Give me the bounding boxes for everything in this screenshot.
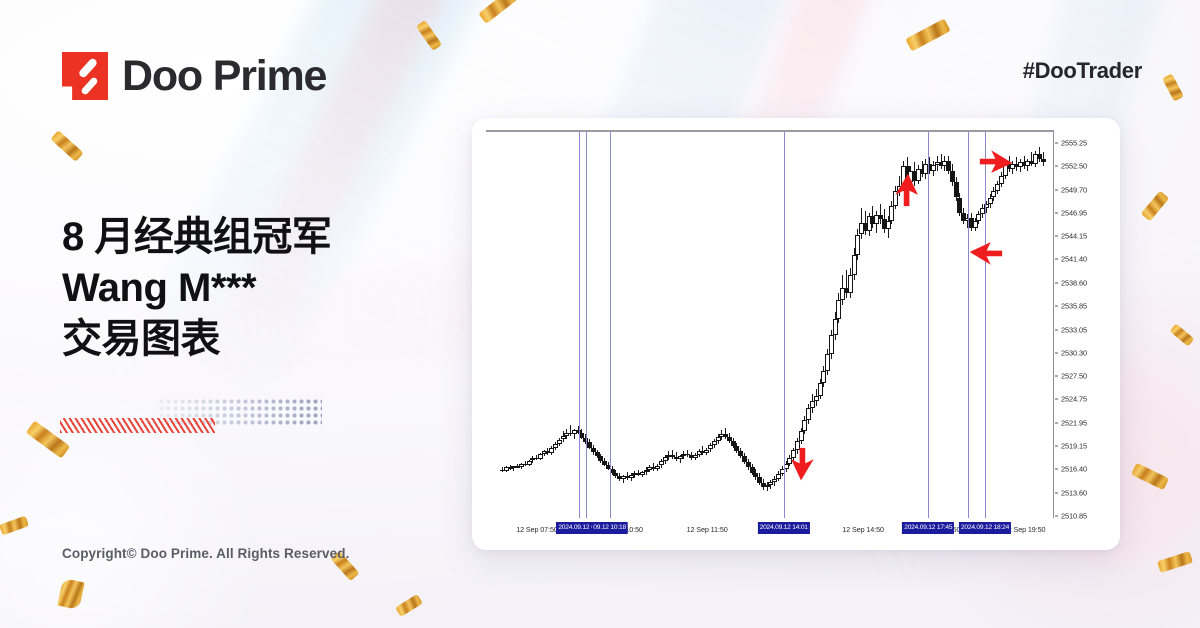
price-tick <box>1055 469 1058 470</box>
price-tick-label: 2555.25 <box>1061 139 1087 148</box>
candle-body <box>1041 159 1046 162</box>
price-tick <box>1055 446 1058 447</box>
trade-time-badge: 2024.09.12 17:45 <box>902 522 954 534</box>
price-tick <box>1055 143 1058 144</box>
trade-vertical-line <box>586 132 587 518</box>
price-tick-label: 2513.60 <box>1061 488 1087 497</box>
trade-time-badge: 2024.09.12 18:24 <box>959 522 1011 534</box>
trade-time-badge: 09.12 10:18 <box>591 522 628 534</box>
price-tick <box>1055 516 1058 517</box>
doo-prime-mark-icon <box>62 52 108 100</box>
price-tick <box>1055 306 1058 307</box>
price-tick <box>1055 189 1058 190</box>
trade-time-badge: 2024.09.12 14:01 <box>758 522 810 534</box>
price-tick <box>1055 236 1058 237</box>
brand-name: Doo Prime <box>122 55 326 98</box>
trade-vertical-line <box>968 132 969 518</box>
price-tick-label: 2552.50 <box>1061 162 1087 171</box>
price-tick <box>1055 492 1058 493</box>
copyright-notice: Copyright© Doo Prime. All Rights Reserve… <box>62 546 349 561</box>
price-tick-label: 2530.30 <box>1061 348 1087 357</box>
price-tick-label: 2541.40 <box>1061 255 1087 264</box>
price-tick-label: 2510.85 <box>1061 512 1087 521</box>
candle <box>1041 132 1047 518</box>
time-tick-label: 12 Sep 07:50 <box>516 525 558 534</box>
hatch-stripe-decoration <box>60 418 215 433</box>
trade-vertical-line <box>579 132 580 518</box>
price-tick-label: 2546.95 <box>1061 208 1087 217</box>
price-tick-label: 2533.05 <box>1061 325 1087 334</box>
price-tick-label: 2516.40 <box>1061 465 1087 474</box>
price-tick <box>1055 166 1058 167</box>
price-tick <box>1055 329 1058 330</box>
time-axis: 12 Sep 07:5012 Sep 10:5012 Sep 11:5012 S… <box>486 520 1054 540</box>
trading-chart-card: 2555.252552.502549.702546.952544.152541.… <box>472 118 1120 550</box>
candlestick-plot-area <box>486 130 1054 518</box>
hashtag-label: #DooTrader <box>1023 58 1142 84</box>
price-tick <box>1055 376 1058 377</box>
trade-vertical-line <box>985 132 986 518</box>
price-tick-label: 2544.15 <box>1061 232 1087 241</box>
price-tick-label: 2538.60 <box>1061 278 1087 287</box>
trade-vertical-line <box>610 132 611 518</box>
price-axis: 2555.252552.502549.702546.952544.152541.… <box>1054 130 1110 518</box>
page-title: 8 月经典组冠军 Wang M*** 交易图表 <box>62 212 331 364</box>
price-tick-label: 2549.70 <box>1061 185 1087 194</box>
price-tick-label: 2519.15 <box>1061 442 1087 451</box>
price-tick <box>1055 352 1058 353</box>
time-tick-label: 12 Sep 11:50 <box>687 525 728 534</box>
price-tick-label: 2524.75 <box>1061 395 1087 404</box>
decorative-bars <box>60 398 322 438</box>
time-tick-label: 12 Sep 14:50 <box>842 525 884 534</box>
price-tick <box>1055 212 1058 213</box>
price-tick <box>1055 399 1058 400</box>
price-tick-label: 2535.85 <box>1061 302 1087 311</box>
price-tick <box>1055 422 1058 423</box>
price-tick <box>1055 282 1058 283</box>
price-tick <box>1055 259 1058 260</box>
poster-canvas: Doo Prime #DooTrader 8 月经典组冠军 Wang M*** … <box>0 0 1200 628</box>
price-tick-label: 2527.50 <box>1061 372 1087 381</box>
brand-logo: Doo Prime <box>62 52 326 100</box>
price-tick-label: 2521.95 <box>1061 418 1087 427</box>
